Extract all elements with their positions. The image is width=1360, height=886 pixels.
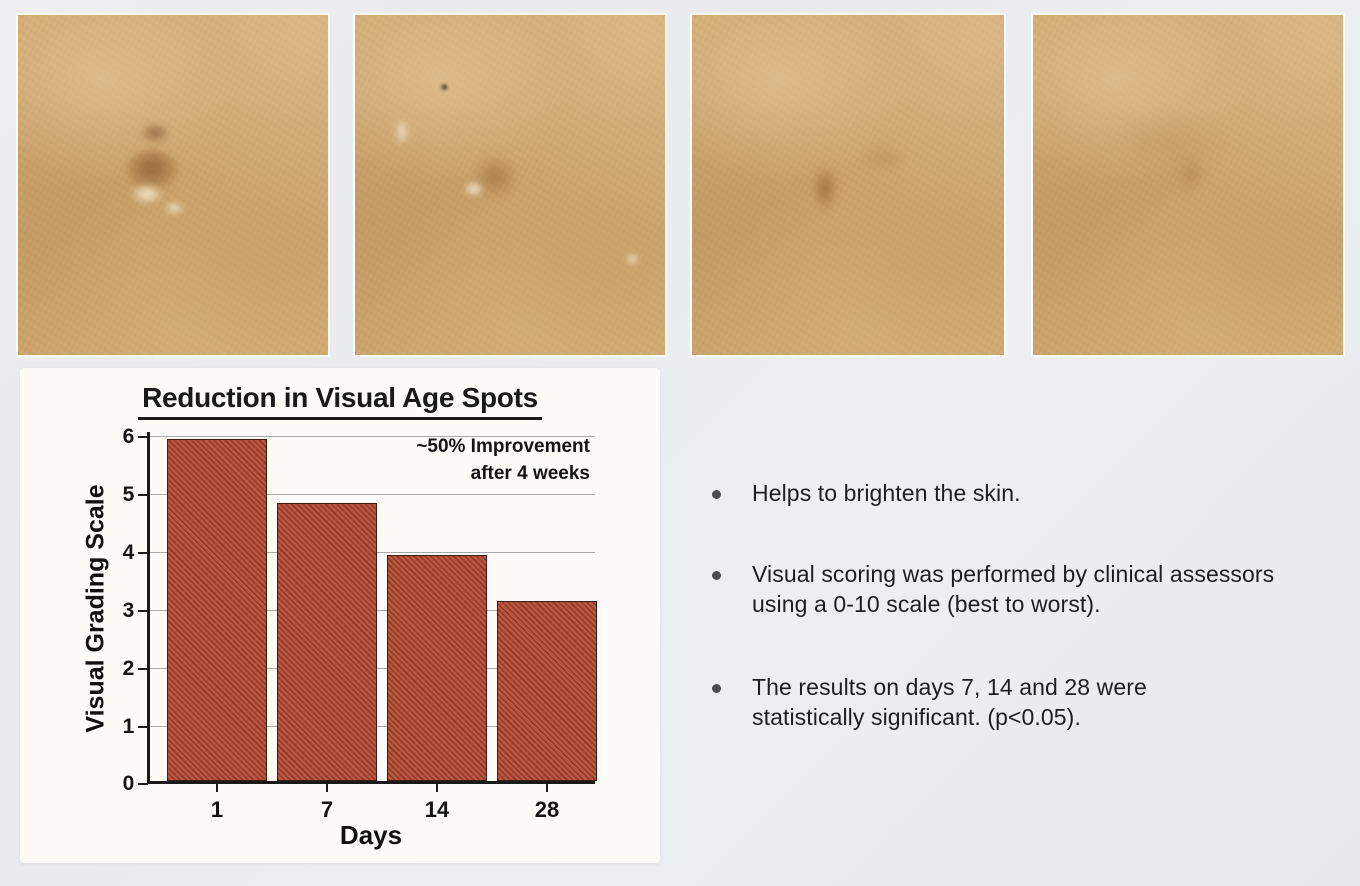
freckle-dot — [440, 83, 449, 91]
skin-shadow — [1111, 111, 1231, 171]
chart-annotation: ~50% Improvement after 4 weeks — [416, 434, 590, 488]
y-tick-mark-1 — [138, 726, 148, 728]
bullet-dot-icon — [712, 571, 721, 580]
y-tick-label-5: 5 — [123, 483, 135, 507]
y-tick-mark-0 — [138, 783, 148, 785]
before-after-photo-strip — [0, 0, 1360, 356]
y-tick-label-2: 2 — [123, 657, 135, 681]
slide-root: Reduction in Visual Age Spots Visual Gra… — [0, 0, 1360, 886]
skin-photo-day-7 — [355, 15, 665, 355]
list-item: Visual scoring was performed by clinical… — [712, 559, 1312, 620]
chart-title: Reduction in Visual Age Spots — [20, 382, 660, 420]
bullet-text-2: Visual scoring was performed by clinical… — [752, 559, 1277, 620]
x-axis-title: Days — [147, 820, 595, 851]
bullet-text-1: Helps to brighten the skin. — [752, 478, 1021, 509]
age-spot-mark-secondary — [140, 123, 170, 143]
list-item: Helps to brighten the skin. — [712, 478, 1312, 509]
age-spot-mark — [812, 167, 838, 211]
skin-texture — [18, 15, 328, 355]
bullet-dot-icon — [712, 684, 721, 693]
skin-shadow — [860, 145, 908, 171]
x-tick-mark-7 — [326, 783, 328, 792]
skin-highlight-pore — [625, 253, 639, 265]
y-tick-label-4: 4 — [123, 541, 135, 565]
bar-day-7[interactable] — [277, 503, 377, 781]
y-tick-label-0: 0 — [123, 772, 135, 796]
skin-highlight — [130, 183, 164, 205]
chart-title-text: Reduction in Visual Age Spots — [138, 382, 542, 420]
bullet-text-3: The results on days 7, 14 and 28 were st… — [752, 672, 1212, 733]
y-tick-mark-5 — [138, 494, 148, 496]
bullet-dot-icon — [712, 490, 721, 499]
x-axis-line — [147, 781, 595, 784]
bar-day-28[interactable] — [497, 601, 597, 781]
bar-day-14[interactable] — [387, 555, 487, 781]
y-tick-mark-3 — [138, 610, 148, 612]
skin-highlight — [463, 181, 485, 197]
y-tick-mark-2 — [138, 668, 148, 670]
x-tick-mark-28 — [546, 783, 548, 792]
list-item: The results on days 7, 14 and 28 were st… — [712, 672, 1312, 733]
x-tick-mark-1 — [216, 783, 218, 792]
y-tick-label-6: 6 — [123, 425, 135, 449]
annotation-line-2: after 4 weeks — [416, 461, 590, 488]
y-tick-label-3: 3 — [123, 599, 135, 623]
skin-texture — [692, 15, 1004, 355]
y-tick-label-1: 1 — [123, 715, 135, 739]
x-tick-mark-14 — [436, 783, 438, 792]
bar-day-1[interactable] — [167, 439, 267, 781]
y-axis-title-wrap: Visual Grading Scale — [78, 432, 114, 784]
bullet-list: Helps to brighten the skin. Visual scori… — [712, 478, 1312, 733]
chart-card: Reduction in Visual Age Spots Visual Gra… — [20, 368, 660, 863]
annotation-line-1: ~50% Improvement — [416, 434, 590, 461]
skin-highlight-edge — [395, 119, 409, 145]
skin-photo-day-14 — [692, 15, 1004, 355]
skin-highlight-small — [164, 201, 184, 215]
y-tick-mark-4 — [138, 552, 148, 554]
y-axis-line — [147, 432, 150, 784]
skin-photo-day-28 — [1033, 15, 1343, 355]
skin-photo-baseline — [18, 15, 328, 355]
y-tick-mark-6 — [138, 436, 148, 438]
y-axis-title: Visual Grading Scale — [82, 484, 111, 732]
